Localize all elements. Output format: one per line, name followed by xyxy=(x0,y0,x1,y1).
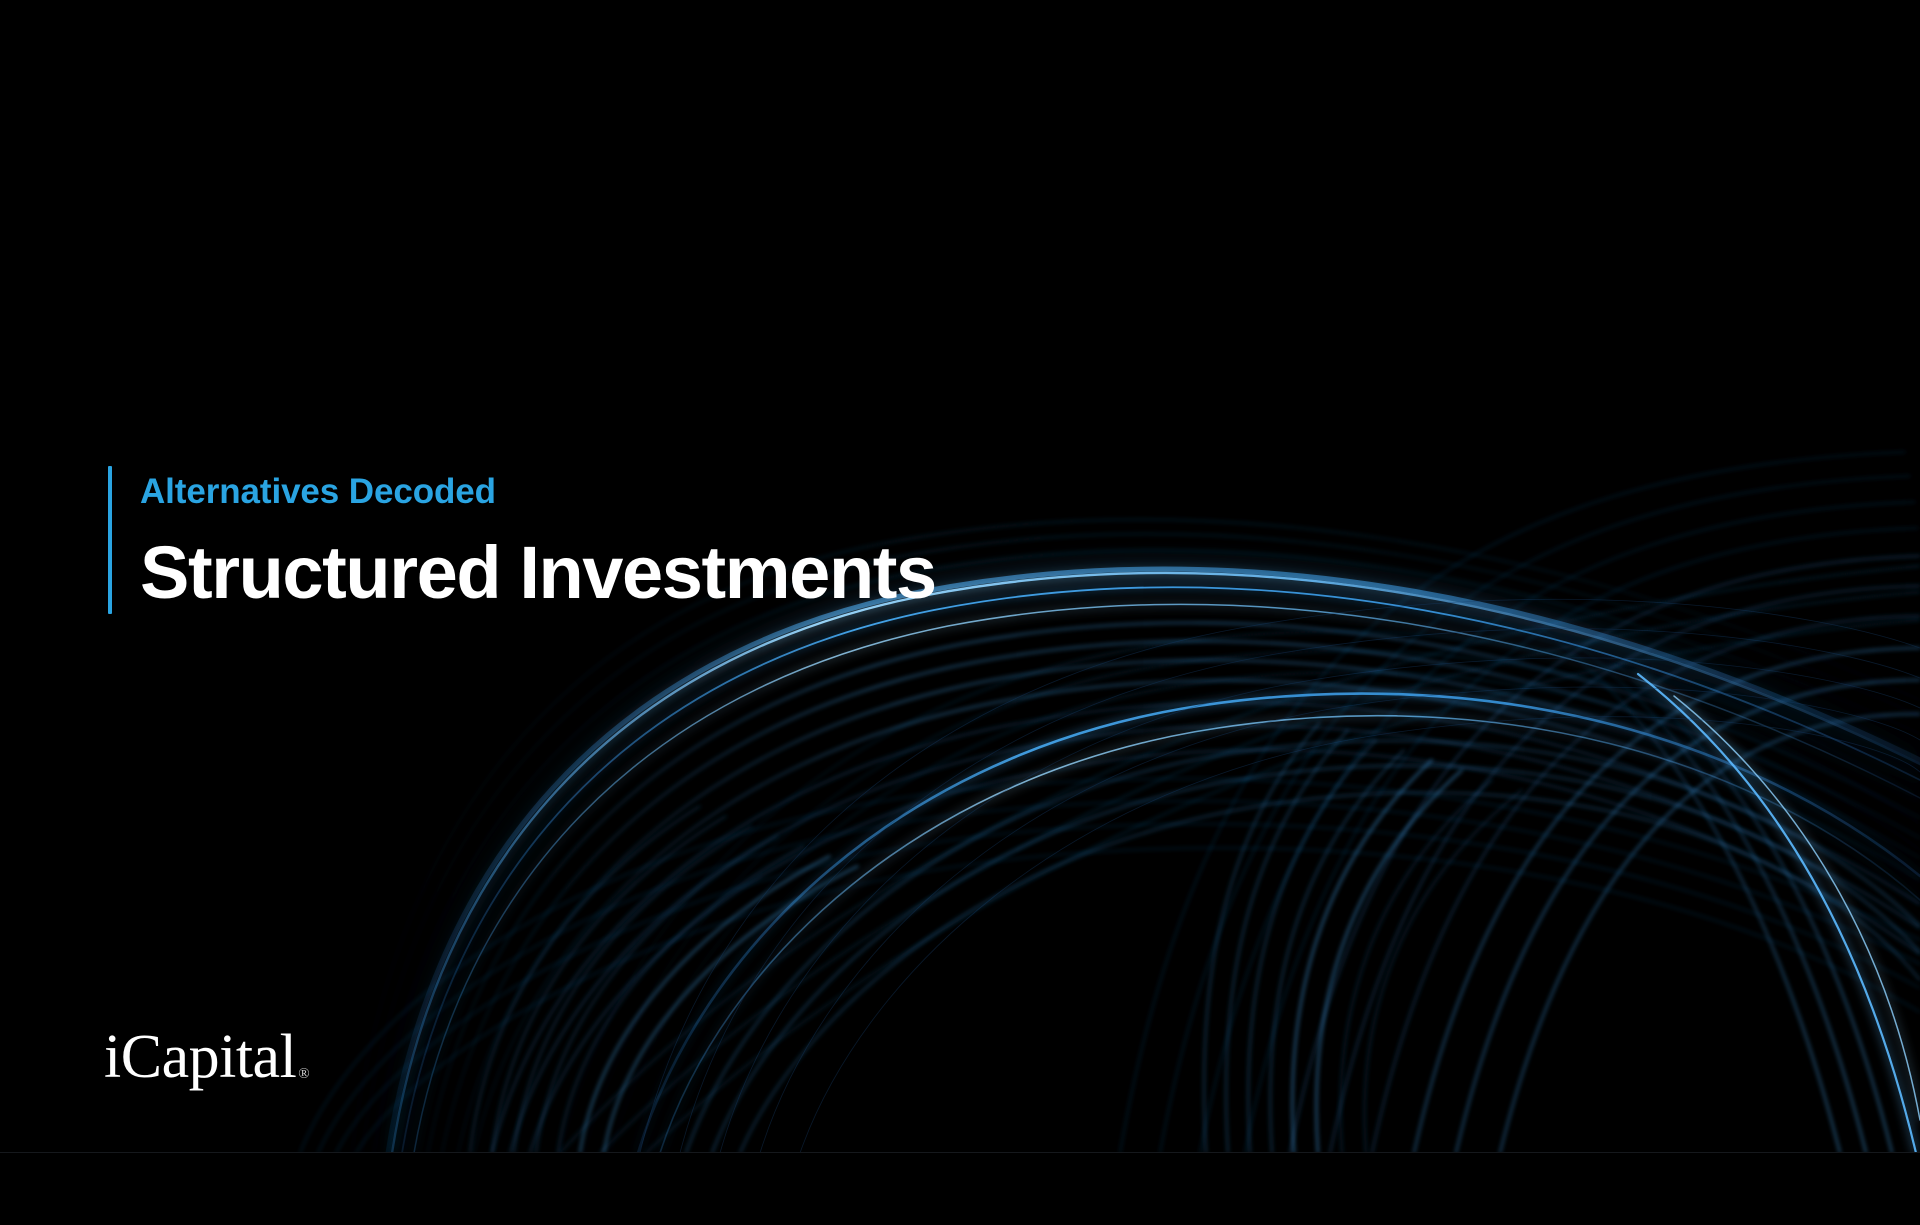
title-block: Alternatives Decoded Structured Investme… xyxy=(108,466,936,614)
bottom-divider xyxy=(0,1152,1920,1225)
page-title: Structured Investments xyxy=(140,536,936,610)
eyebrow-label: Alternatives Decoded xyxy=(140,474,936,509)
logo-wordmark: iCapital xyxy=(104,1026,296,1088)
registered-trademark-icon: ® xyxy=(298,1067,309,1082)
headings-group: Alternatives Decoded Structured Investme… xyxy=(112,466,936,614)
title-slide: Alternatives Decoded Structured Investme… xyxy=(0,0,1920,1225)
icapital-logo: iCapital® xyxy=(104,1026,309,1088)
